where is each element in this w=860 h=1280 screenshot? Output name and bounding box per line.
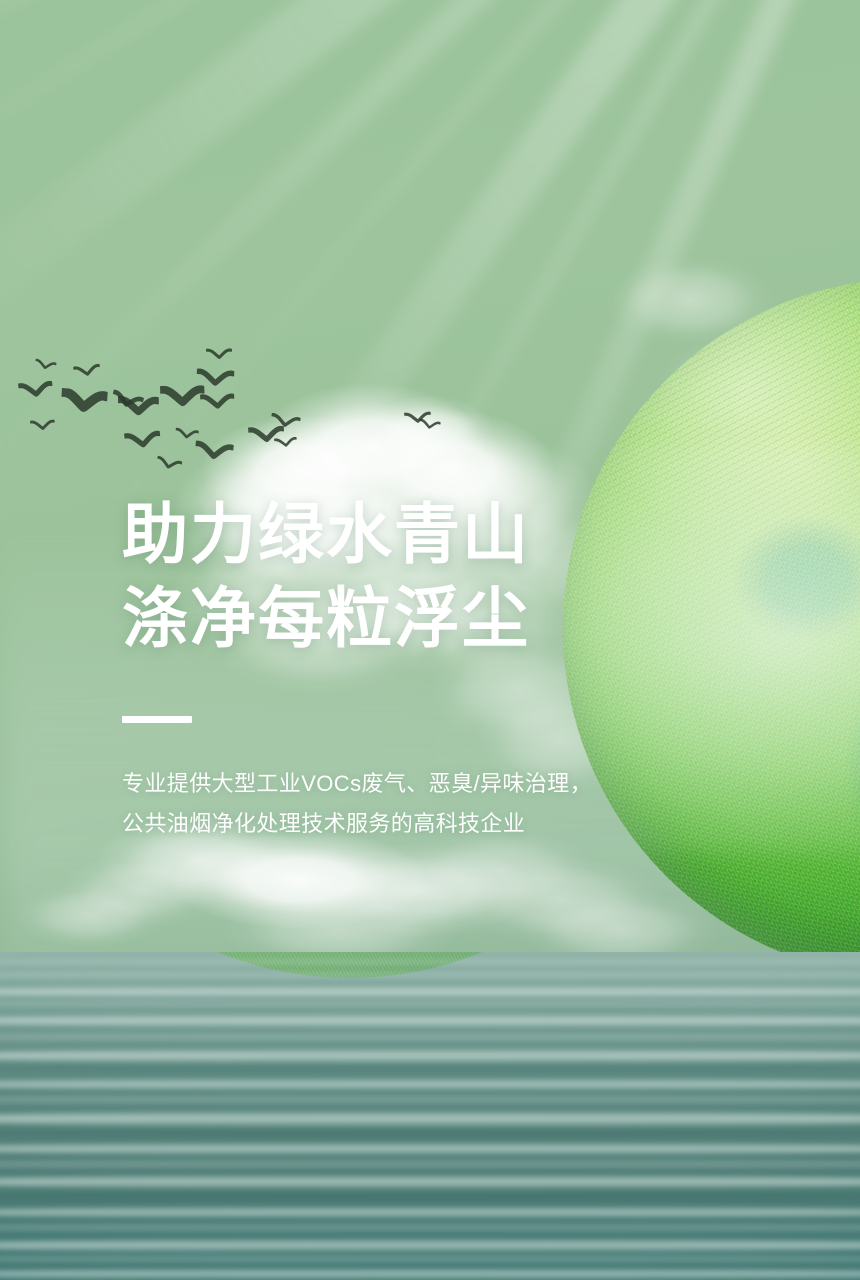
subtitle-line-2: 公共油烟净化处理技术服务的高科技企业: [122, 804, 682, 844]
divider-rule: [122, 716, 192, 723]
promotional-banner: 助力绿水青山 涤净每粒浮尘 专业提供大型工业VOCs废气、恶臭/异味治理， 公共…: [0, 0, 860, 1280]
headline-line-1: 助力绿水青山: [122, 492, 682, 576]
headline-line-2: 涤净每粒浮尘: [122, 576, 682, 660]
subtitle-line-1: 专业提供大型工业VOCs废气、恶臭/异味治理，: [122, 764, 682, 804]
subtitle-block: 专业提供大型工业VOCs废气、恶臭/异味治理， 公共油烟净化处理技术服务的高科技…: [122, 764, 682, 844]
copy-block: 助力绿水青山 涤净每粒浮尘 专业提供大型工业VOCs废气、恶臭/异味治理， 公共…: [122, 492, 682, 844]
